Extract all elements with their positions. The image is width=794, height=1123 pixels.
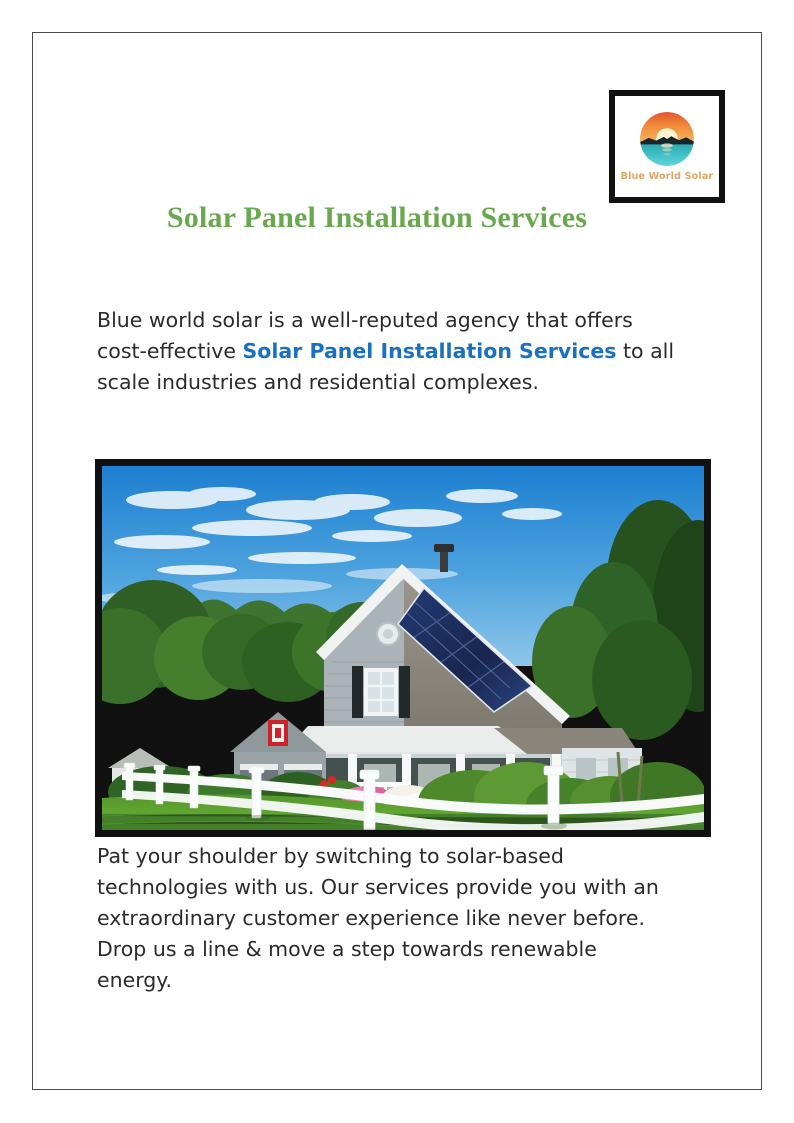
intro-paragraph: Blue world solar is a well-reputed agenc… <box>97 305 677 398</box>
logo-wordmark: Blue World Solar <box>621 171 714 182</box>
house-with-solar-panels-photo <box>95 459 711 837</box>
sunset-circle-icon <box>640 112 694 166</box>
service-highlight: Solar Panel Installation Services <box>243 339 617 363</box>
brand-logo: Blue World Solar <box>609 90 725 203</box>
page-title: Solar Panel Installation Services <box>57 201 697 235</box>
document-page: Blue World Solar Solar Panel Installatio… <box>32 32 762 1090</box>
outro-paragraph: Pat your shoulder by switching to solar-… <box>97 841 677 996</box>
